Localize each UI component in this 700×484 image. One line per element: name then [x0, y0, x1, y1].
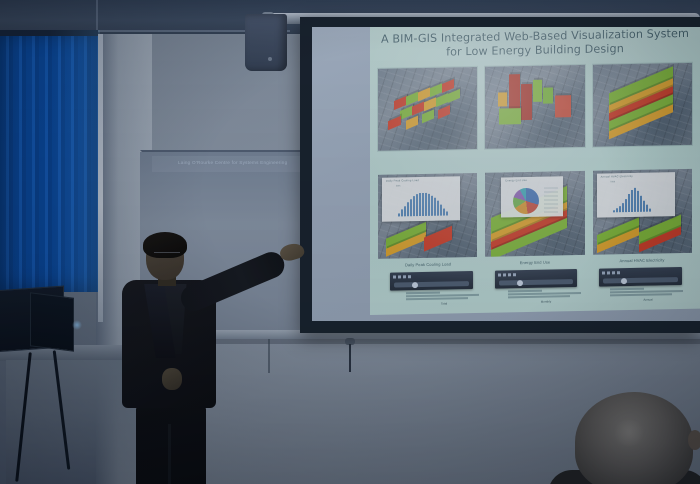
glasses-icon [154, 252, 180, 258]
bar-chart [398, 190, 448, 217]
slide-note-row: Total Monthly Annual [406, 287, 686, 310]
toolbar-icons[interactable] [602, 269, 679, 275]
tower-block [521, 84, 532, 120]
presenter-legs [136, 404, 206, 484]
toolbar-icons[interactable] [393, 273, 470, 279]
pie-legend [544, 187, 558, 213]
speaker-indicator [268, 57, 272, 61]
panel-toolbar-2[interactable] [495, 269, 578, 289]
panel-energy-end-use: Energy End Use [485, 171, 584, 257]
photograph-scene: Laing O'Rourke Centre for Systems Engine… [0, 0, 700, 484]
popup-title: Annual HVAC Electricity [601, 175, 633, 179]
note-label-3: Annual [610, 297, 686, 302]
panel-annual-hvac-electricity: Annual HVAC Electricity kWh [593, 169, 692, 255]
panel-daily-peak-cooling-load: Daily Peak Cooling Load kWh [378, 173, 477, 259]
hair-crown [612, 420, 646, 446]
panel-caption-3: Annual HVAC Electricity [592, 257, 692, 264]
slide-top-panel-row [378, 63, 692, 151]
toolbar-slider[interactable] [394, 281, 469, 287]
low-block [499, 108, 521, 124]
tower-block [555, 95, 571, 117]
slide-bottom-panel-row: Daily Peak Cooling Load kWh [378, 169, 692, 259]
light-reflection [72, 320, 82, 330]
popup-subtitle: kWh [611, 181, 615, 183]
pie-chart [513, 188, 539, 214]
slider-knob[interactable] [412, 282, 418, 288]
projected-slide: A BIM-GIS Integrated Web-Based Visualiza… [370, 27, 700, 315]
popup-title: Daily Peak Cooling Load [386, 179, 419, 183]
tower-block [533, 80, 542, 102]
window-light [50, 30, 100, 292]
tower-block [498, 92, 507, 106]
toolbar-icons[interactable] [498, 271, 575, 277]
toolbar-slider[interactable] [499, 279, 574, 285]
note-label-1: Total [406, 301, 482, 306]
projection-screen-surface: A BIM-GIS Integrated Web-Based Visualiza… [312, 27, 700, 321]
slider-knob[interactable] [621, 278, 627, 284]
panel-building-cluster-3d [485, 65, 584, 149]
ledge-cord [349, 344, 351, 372]
note-block-1: Total [406, 291, 482, 310]
chart-popup-card: Annual HVAC Electricity kWh [597, 172, 675, 217]
slide-title: A BIM-GIS Integrated Web-Based Visualiza… [370, 27, 700, 61]
slider-knob[interactable] [517, 280, 523, 286]
audience-ear [688, 430, 700, 450]
note-block-2: Monthly [508, 289, 584, 308]
toolbar-slider[interactable] [603, 277, 678, 283]
panel-caption-1: Daily Peak Cooling Load [378, 261, 478, 268]
room-sign-text: Laing O'Rourke Centre for Systems Engine… [178, 160, 318, 165]
panel-toolbar-1[interactable] [390, 271, 473, 291]
laptop-lid [30, 292, 74, 351]
ceiling-seam-vertical [96, 0, 98, 32]
note-block-3: Annual [610, 287, 686, 306]
panel-city-block-massing [378, 67, 477, 151]
presenter-left-hand [162, 368, 182, 390]
wall-speaker [245, 14, 287, 71]
popup-subtitle: kWh [396, 185, 400, 187]
popup-title: Energy End Use [505, 179, 527, 182]
presenter [110, 228, 320, 484]
panel-single-building-layers [593, 63, 692, 147]
chart-popup-card: Daily Peak Cooling Load kWh [382, 176, 460, 221]
panel-caption-2: Energy End Use [485, 259, 585, 266]
note-label-2: Monthly [508, 299, 584, 304]
chart-popup-card: Energy End Use [501, 176, 563, 217]
panel-toolbar-3[interactable] [599, 267, 682, 287]
presenter-leg-separation [168, 424, 171, 484]
bar-chart [613, 186, 651, 213]
window-frame-edge [98, 34, 103, 322]
tower-block [543, 87, 553, 103]
